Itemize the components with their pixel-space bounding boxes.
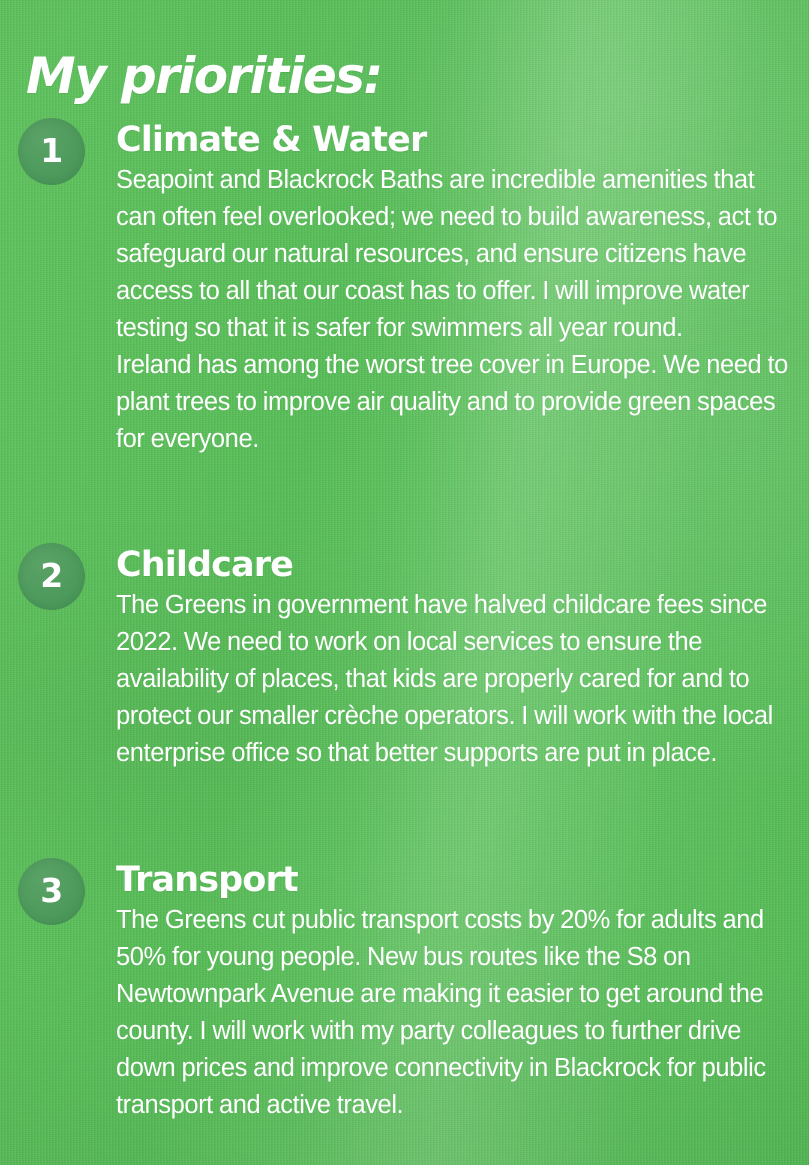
page-title: My priorities: (26, 51, 382, 101)
priority-paragraph: Ireland has among the worst tree cover i… (116, 347, 800, 458)
priority-paragraph: The Greens in government have halved chi… (116, 587, 800, 772)
priority-number-badge-1: 1 (18, 118, 85, 185)
priority-heading-1: Climate & Water (116, 122, 800, 159)
priority-paragraph: The Greens cut public transport costs by… (116, 902, 800, 1124)
priorities-leaflet: My priorities: 1 Climate & Water Seapoin… (0, 0, 809, 1165)
priority-number-badge-3: 3 (18, 858, 85, 925)
priority-number-badge-2: 2 (18, 543, 85, 610)
priority-body-3: Transport The Greens cut public transpor… (116, 862, 800, 1124)
priority-heading-2: Childcare (116, 547, 800, 584)
priority-paragraph: Seapoint and Blackrock Baths are incredi… (116, 162, 800, 347)
priority-number-3: 3 (18, 858, 85, 925)
priority-heading-3: Transport (116, 862, 800, 899)
priority-body-1: Climate & Water Seapoint and Blackrock B… (116, 122, 800, 458)
priority-number-2: 2 (18, 543, 85, 610)
priority-body-2: Childcare The Greens in government have … (116, 547, 800, 772)
priority-number-1: 1 (18, 118, 85, 185)
